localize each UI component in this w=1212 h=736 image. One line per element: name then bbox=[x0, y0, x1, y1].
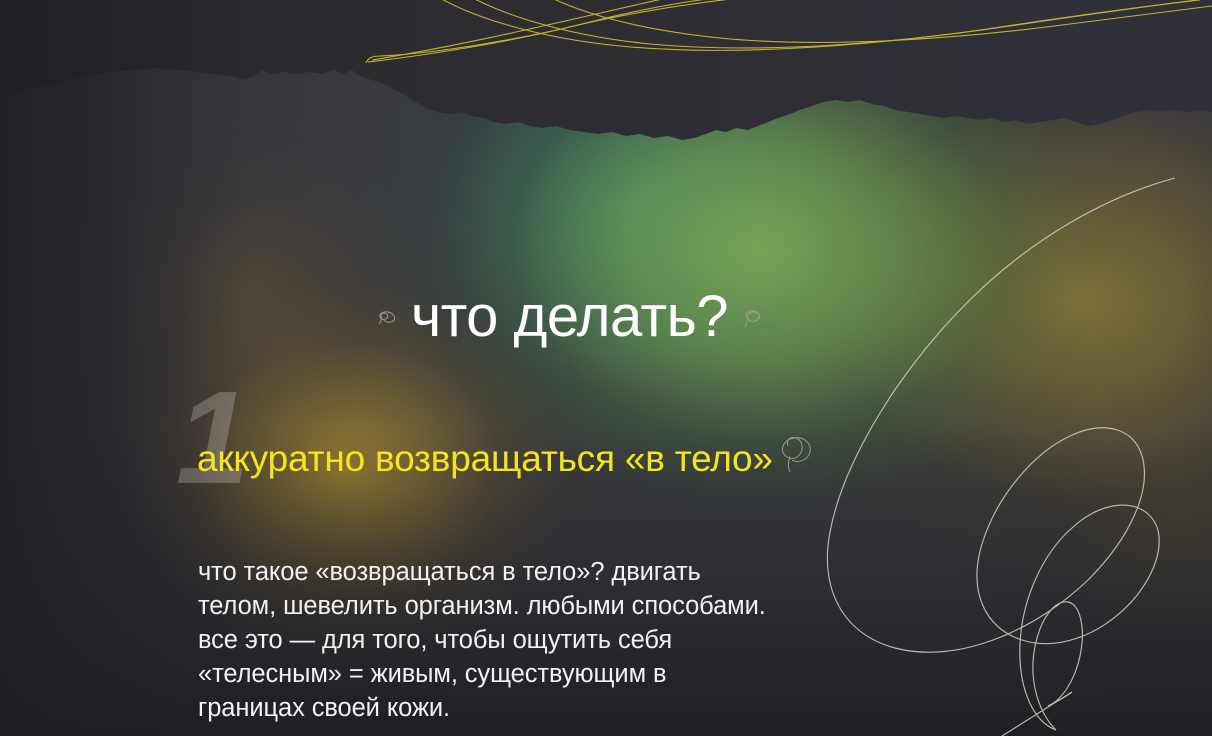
rose-doodle-left-icon bbox=[375, 304, 401, 330]
rose-doodle-right-icon bbox=[738, 302, 768, 332]
title-row: что делать? bbox=[375, 288, 768, 346]
step-heading: аккуратно возвращаться «в тело» bbox=[197, 436, 817, 482]
page-title: что делать? bbox=[411, 288, 728, 346]
step-body-text: что такое «возвращаться в тело»? двигать… bbox=[198, 556, 778, 726]
slide-canvas: что делать? 1 аккуратно возвращаться «в … bbox=[0, 0, 1212, 736]
